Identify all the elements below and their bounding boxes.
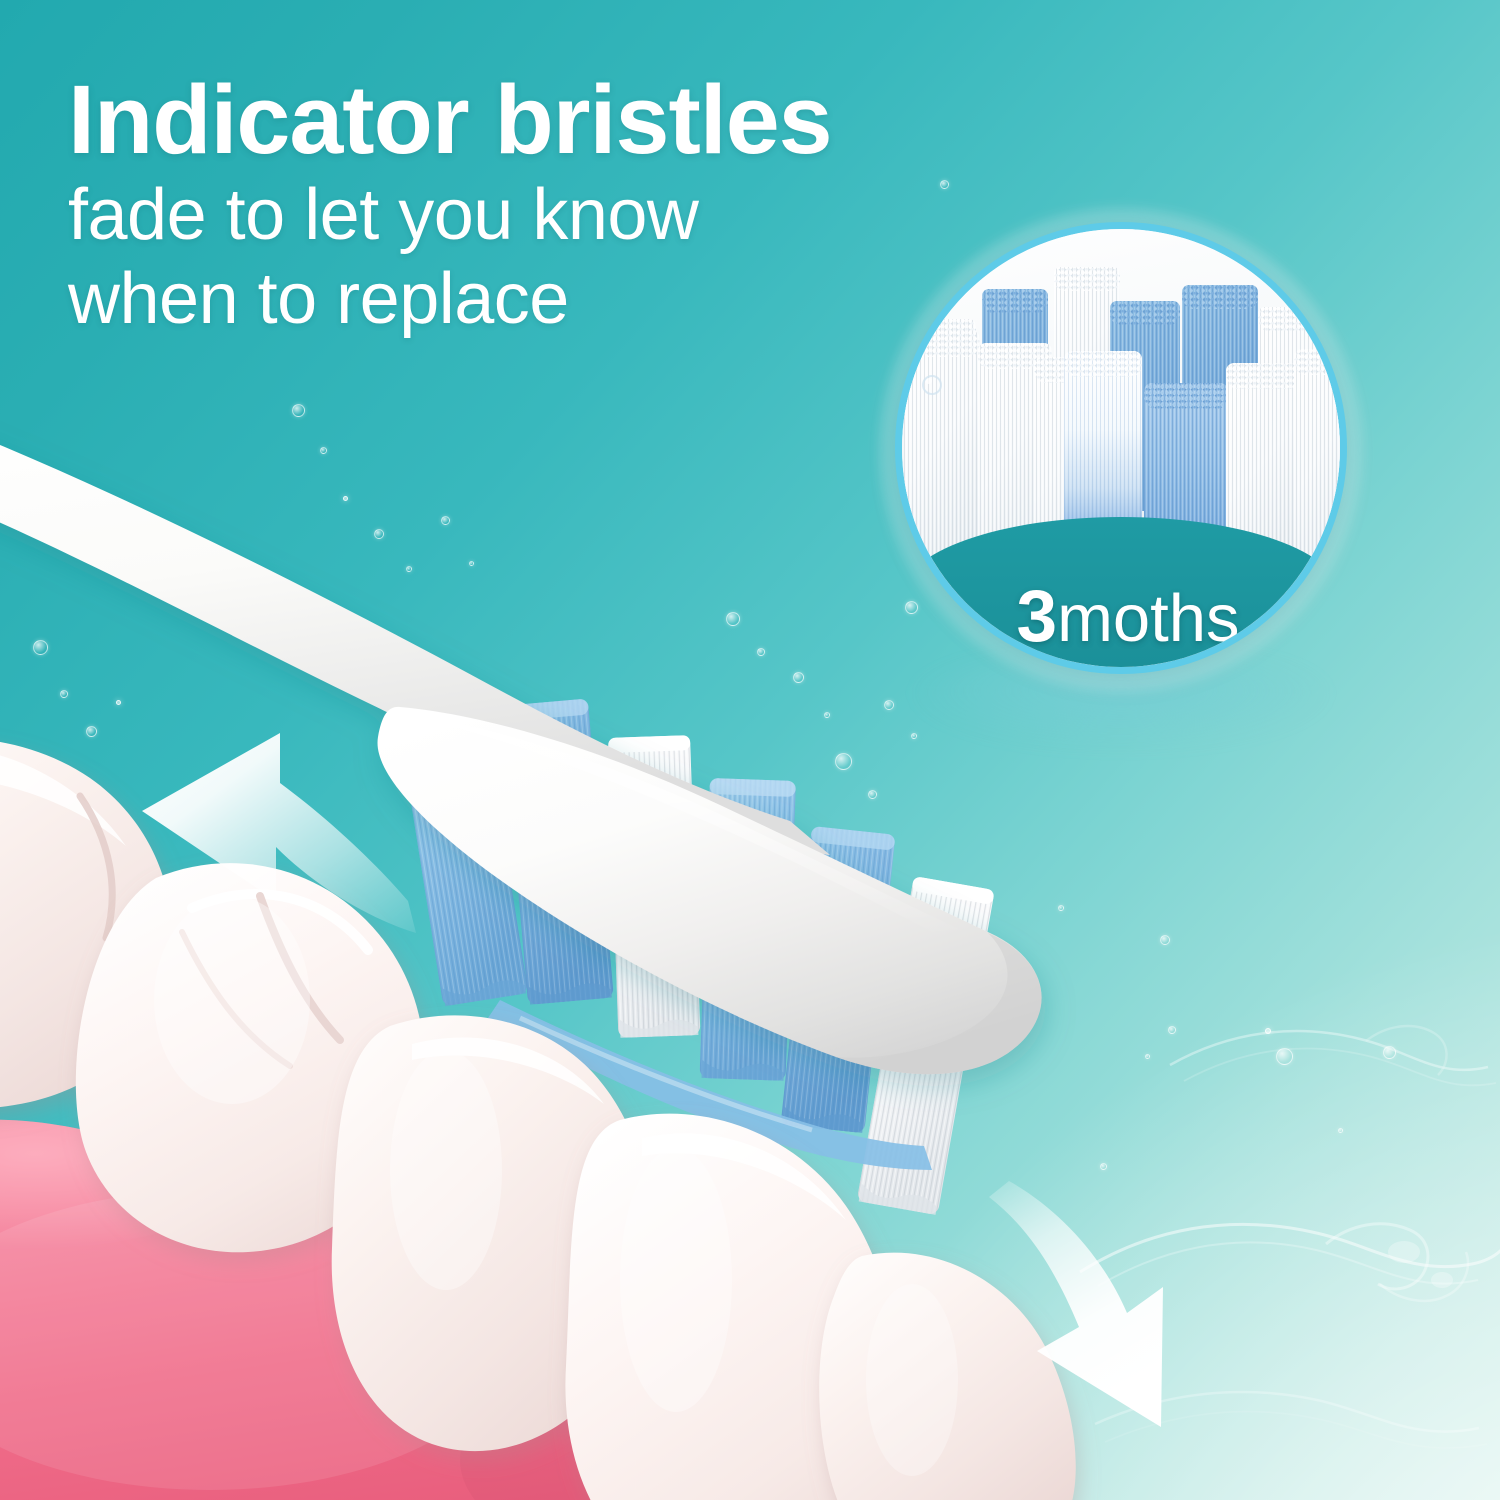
water-bubble xyxy=(1100,1163,1107,1170)
water-splash-mid-right xyxy=(1170,995,1500,1145)
water-bubble xyxy=(1168,1026,1176,1034)
teeth-and-gum-graphic xyxy=(0,700,1100,1500)
water-bubble xyxy=(1145,1054,1150,1059)
water-bubble xyxy=(1338,1128,1343,1133)
product-feature-graphic: Indicator bristles fade to let you know … xyxy=(0,0,1500,1500)
water-bubble xyxy=(1276,1048,1293,1065)
badge-number: 3 xyxy=(1016,576,1057,657)
water-bubble xyxy=(1160,935,1170,945)
water-splash-lower-right xyxy=(1095,1370,1500,1500)
water-splash-top-right xyxy=(1080,1180,1500,1370)
headline-secondary-line-2: when to replace xyxy=(68,257,1068,341)
headline-secondary: fade to let you know when to replace xyxy=(68,173,1068,341)
headline-primary: Indicator bristles xyxy=(68,72,1068,167)
badge-unit: moths xyxy=(1057,581,1239,656)
water-bubble xyxy=(1383,1046,1396,1059)
water-bubble xyxy=(1265,1028,1271,1034)
headline-block: Indicator bristles fade to let you know … xyxy=(68,72,1068,342)
headline-secondary-line-1: fade to let you know xyxy=(68,173,1068,257)
